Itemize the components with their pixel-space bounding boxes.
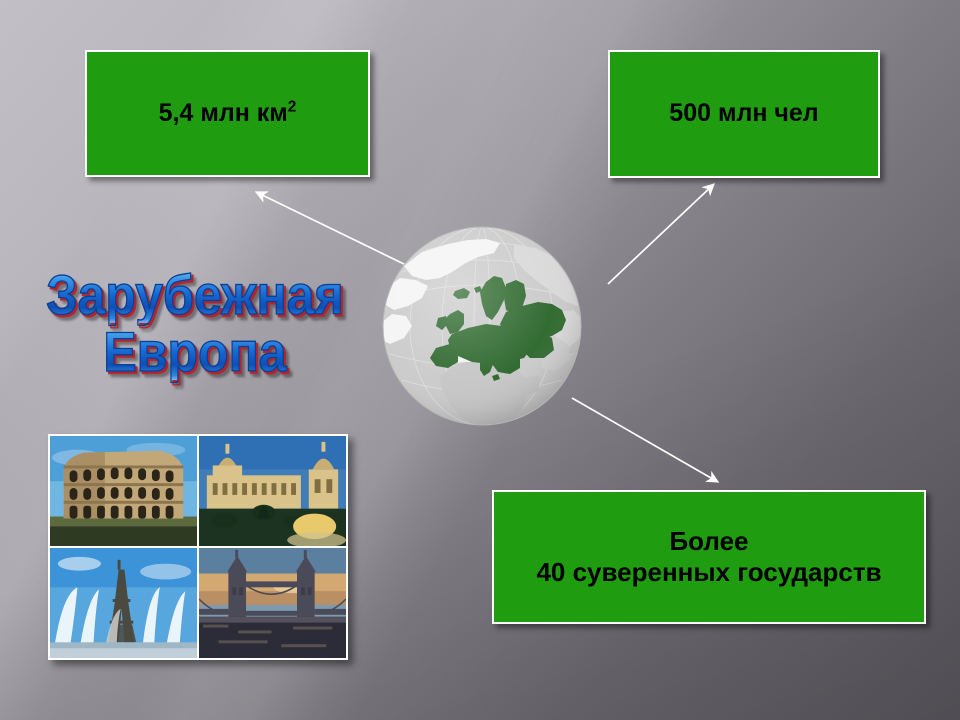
photo-tower-bridge-london (199, 548, 346, 658)
vienna-palace-illustration (199, 436, 346, 546)
europe-globe (382, 226, 582, 426)
callout-population-text: 500 млн чел (669, 99, 818, 129)
photo-colosseum-rome (50, 436, 197, 546)
page-title: Зарубежная Европа (30, 268, 360, 380)
colosseum-illustration (50, 436, 197, 546)
arrow-to-states (572, 398, 718, 482)
photo-eiffel-tower-paris (50, 548, 197, 658)
callout-area[interactable]: 5,4 млн км2 (85, 50, 370, 177)
globe-graphic (382, 226, 582, 426)
callout-population[interactable]: 500 млн чел (608, 50, 880, 178)
eiffel-tower-illustration (50, 548, 197, 658)
photo-collage[interactable] (48, 434, 348, 660)
title-line-1: Зарубежная (30, 268, 360, 323)
callout-states[interactable]: Более 40 суверенных государств (492, 490, 926, 624)
superscript-two: 2 (288, 98, 297, 115)
photo-palace-vienna (199, 436, 346, 546)
presentation-slide: Зарубежная Европа 5,4 млн км2 500 млн че… (0, 0, 960, 720)
arrow-to-population (608, 184, 714, 284)
callout-area-text: 5,4 млн км2 (159, 99, 297, 129)
tower-bridge-illustration (199, 548, 346, 658)
callout-states-text: Более 40 суверенных государств (536, 526, 881, 587)
title-line-2: Европа (30, 325, 360, 380)
